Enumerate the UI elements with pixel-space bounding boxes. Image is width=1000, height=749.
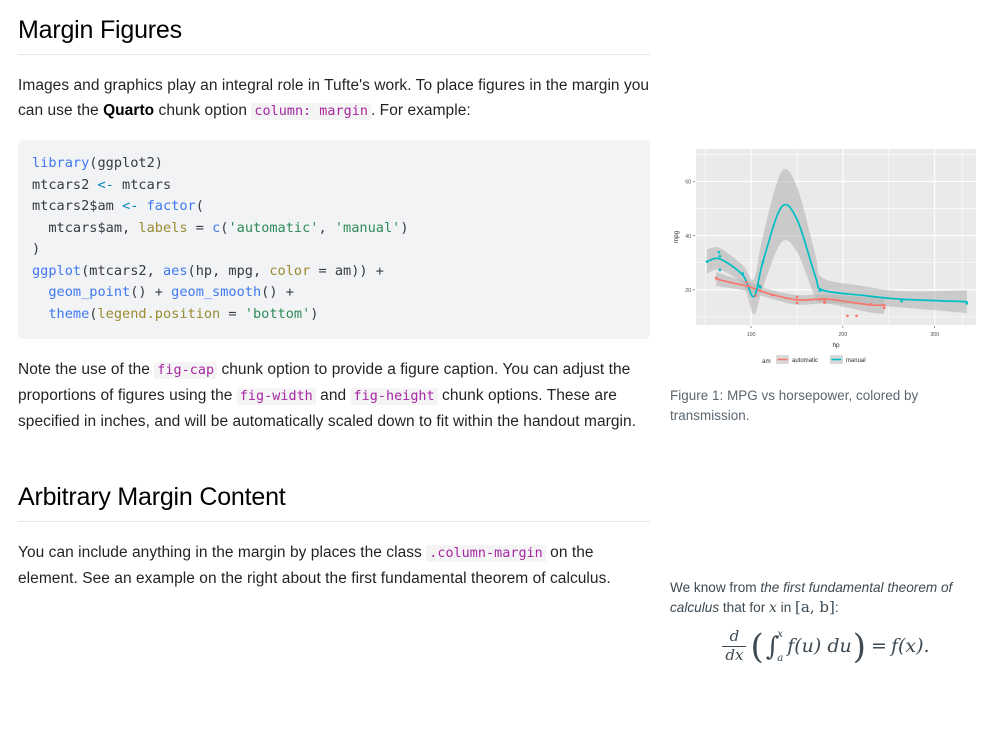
math-interval-ab: [a, b]: [795, 598, 835, 616]
legend-title: am: [762, 358, 771, 365]
data-point-manual[interactable]: [900, 300, 903, 303]
integral-group: ∫ x a: [766, 632, 784, 660]
data-point-automatic[interactable]: [819, 298, 822, 301]
x-axis-title: hp: [832, 342, 840, 349]
fig-cap-note-paragraph: Note the use of the fig-cap chunk option…: [18, 357, 650, 434]
equals-sign: =: [871, 635, 887, 657]
integrand: f(u) du: [787, 635, 852, 657]
data-point-manual[interactable]: [706, 260, 709, 263]
formula-inline: d dx ( ∫ x a f(u) du ) = f(x).: [722, 629, 929, 664]
open-paren: (: [750, 634, 763, 661]
data-point-manual[interactable]: [759, 286, 762, 289]
code-token: ): [400, 220, 408, 236]
data-point-automatic[interactable]: [771, 294, 774, 297]
code-token: mtcars$am,: [32, 220, 138, 236]
data-point-automatic[interactable]: [745, 281, 748, 284]
legend-label-automatic[interactable]: automatic: [792, 358, 818, 364]
x-axis-tick-label: 300: [930, 332, 939, 338]
code-token: ): [32, 241, 40, 257]
y-axis-tick-label: 20: [685, 288, 691, 294]
code-token: <-: [122, 198, 138, 214]
code-token: factor: [147, 198, 196, 214]
data-point-automatic[interactable]: [855, 314, 858, 317]
legend-label-manual[interactable]: manual: [846, 358, 866, 364]
code-token: legend.position: [97, 306, 220, 322]
code-token: (hp, mpg,: [188, 263, 270, 279]
code-token: () +: [261, 284, 294, 300]
code-line: mtcars2 <- mtcars: [32, 175, 636, 197]
arbitrary-margin-paragraph: You can include anything in the margin b…: [18, 540, 650, 591]
fraction-numerator: d: [727, 629, 743, 646]
data-point-automatic[interactable]: [754, 294, 757, 297]
code-token: 'bottom': [245, 306, 310, 322]
close-paren: ): [853, 634, 866, 661]
inline-code-fig-height: fig-height: [351, 388, 438, 405]
margin-note-calculus: We know from the first fundamental theor…: [670, 578, 982, 618]
tufte-document-page: Margin Figures Images and graphics play …: [0, 0, 1000, 749]
code-line: ggplot(mtcars2, aes(hp, mpg, color = am)…: [32, 261, 636, 283]
code-token: library: [32, 155, 89, 171]
page-title: Margin Figures: [18, 0, 650, 54]
figure-caption: Figure 1: MPG vs horsepower, colored by …: [670, 386, 985, 425]
data-point-manual[interactable]: [719, 255, 722, 258]
data-point-manual[interactable]: [741, 272, 744, 275]
code-token: theme: [48, 306, 89, 322]
quarto-bold-label: Quarto: [103, 102, 154, 119]
code-line: ): [32, 239, 636, 261]
code-token: 'automatic': [228, 220, 318, 236]
data-point-automatic[interactable]: [796, 301, 799, 304]
y-axis-tick-label: 60: [685, 180, 691, 186]
margin-note-d: :: [835, 600, 839, 615]
heading-divider: [18, 54, 650, 55]
data-point-automatic[interactable]: [883, 307, 886, 310]
inline-code-column-margin-class: .column-margin: [426, 545, 546, 562]
code-token: =: [220, 306, 245, 322]
data-point-manual[interactable]: [819, 289, 822, 292]
code-token: labels: [138, 220, 187, 236]
code-token: color: [269, 263, 310, 279]
inline-code-fig-cap: fig-cap: [154, 362, 217, 379]
derivative-fraction: d dx: [722, 629, 746, 664]
code-line: geom_point() + geom_smooth() +: [32, 282, 636, 304]
code-token: (ggplot2): [89, 155, 163, 171]
note-text-a: Note the use of the: [18, 361, 154, 378]
data-point-manual[interactable]: [718, 251, 721, 254]
arb-text-a: You can include anything in the margin b…: [18, 544, 426, 561]
integral-upper-limit: x: [777, 629, 783, 640]
inline-code-fig-width: fig-width: [237, 388, 316, 405]
y-axis-title: mpg: [673, 230, 680, 243]
main-content-column: Margin Figures Images and graphics play …: [18, 0, 650, 591]
intro-text-b: chunk option: [154, 102, 251, 119]
data-point-automatic[interactable]: [869, 303, 872, 306]
fraction-denominator: dx: [722, 646, 746, 664]
data-point-automatic[interactable]: [747, 284, 750, 287]
code-token: mtcars2: [32, 177, 97, 193]
data-point-manual[interactable]: [965, 302, 968, 305]
code-line: library(ggplot2): [32, 153, 636, 175]
x-axis-tick-label: 200: [839, 332, 848, 338]
heading-divider-2: [18, 521, 650, 522]
code-token: mtcars: [114, 177, 171, 193]
code-token: [138, 198, 146, 214]
margin-formula-ftc: d dx ( ∫ x a f(u) du ) = f(x).: [670, 628, 982, 664]
data-point-automatic[interactable]: [846, 314, 849, 317]
code-token: ,: [318, 220, 334, 236]
code-token: [32, 306, 48, 322]
code-token: ggplot: [32, 263, 81, 279]
margin-figure-mpg-vs-hp: 204060100200300hpmpgamautomaticmanual: [670, 145, 980, 367]
inline-code-column-margin: column: margin: [251, 103, 371, 120]
data-point-manual[interactable]: [719, 269, 722, 272]
code-token: ): [310, 306, 318, 322]
code-token: (: [196, 198, 204, 214]
code-token: geom_smooth: [171, 284, 261, 300]
formula-rhs: f(x).: [891, 635, 930, 657]
margin-note-b: that for: [719, 600, 769, 615]
data-point-automatic[interactable]: [715, 277, 718, 280]
math-variable-x: x: [769, 600, 777, 616]
code-token: 'manual': [335, 220, 400, 236]
note-text-c: and: [316, 387, 351, 404]
intro-paragraph: Images and graphics play an integral rol…: [18, 73, 650, 124]
x-axis-tick-label: 100: [747, 332, 756, 338]
code-token: () +: [130, 284, 171, 300]
code-token: =: [188, 220, 213, 236]
integral-lower-limit: a: [777, 653, 783, 664]
intro-text-c: . For example:: [371, 102, 471, 119]
code-token: <-: [97, 177, 113, 193]
data-point-automatic[interactable]: [796, 296, 799, 299]
code-token: mtcars2$am: [32, 198, 122, 214]
code-line: mtcars2$am <- factor(: [32, 196, 636, 218]
data-point-automatic[interactable]: [823, 298, 826, 301]
r-code-block: library(ggplot2)mtcars2 <- mtcarsmtcars2…: [18, 140, 650, 339]
code-token: = am)) +: [310, 263, 384, 279]
code-token: aes: [163, 263, 188, 279]
code-token: [32, 284, 48, 300]
code-line: mtcars$am, labels = c('automatic', 'manu…: [32, 218, 636, 240]
ggplot-scatter-chart: 204060100200300hpmpgamautomaticmanual: [670, 145, 980, 367]
data-point-automatic[interactable]: [823, 301, 826, 304]
data-point-manual[interactable]: [762, 260, 765, 263]
margin-note-c: in: [777, 600, 795, 615]
code-token: (mtcars2,: [81, 263, 163, 279]
data-point-automatic[interactable]: [883, 304, 886, 307]
margin-column: 204060100200300hpmpgamautomaticmanual Fi…: [670, 0, 985, 425]
section-title-arbitrary-margin-content: Arbitrary Margin Content: [18, 434, 650, 521]
code-line: theme(legend.position = 'bottom'): [32, 304, 636, 326]
code-token: geom_point: [48, 284, 130, 300]
margin-note-a: We know from: [670, 580, 760, 595]
y-axis-tick-label: 40: [685, 234, 691, 240]
